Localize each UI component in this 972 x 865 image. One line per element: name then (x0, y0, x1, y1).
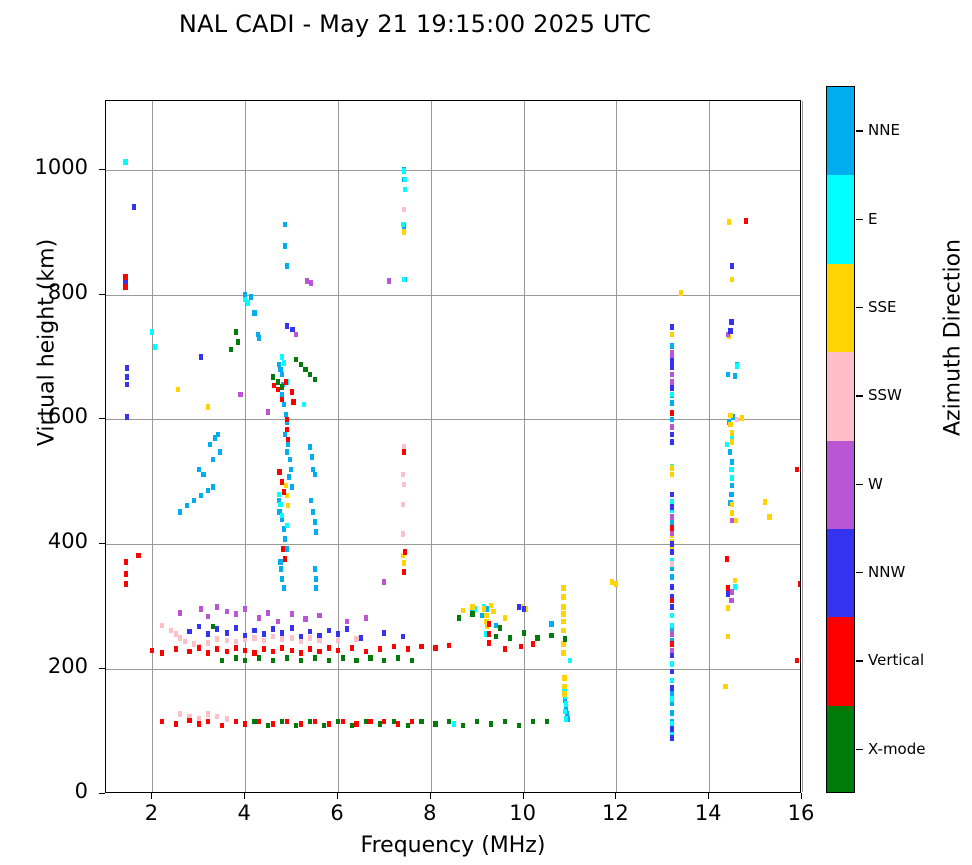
data-point (302, 402, 306, 408)
data-point (396, 655, 400, 661)
data-point (406, 646, 410, 652)
data-point (503, 719, 507, 725)
data-point (670, 410, 674, 416)
x-axis-tick-label: 14 (678, 801, 738, 825)
x-axis-tick (523, 793, 524, 799)
data-point (670, 358, 674, 364)
data-point (364, 649, 368, 655)
data-point (519, 644, 523, 650)
data-point (150, 329, 154, 335)
data-point (401, 222, 405, 228)
data-point (206, 631, 210, 637)
colorbar-segment-e (827, 175, 854, 263)
data-point (234, 329, 238, 335)
data-point (401, 472, 405, 478)
x-axis-tick (151, 793, 152, 799)
data-point (670, 432, 674, 438)
data-point (670, 574, 674, 580)
data-point (447, 643, 451, 649)
data-point (197, 645, 201, 651)
data-point (215, 604, 219, 610)
data-point (730, 475, 734, 481)
y-axis-tick-label: 200 (0, 654, 88, 678)
data-point (670, 631, 674, 637)
data-point (401, 531, 405, 537)
data-point (402, 168, 406, 174)
data-point (670, 417, 674, 423)
data-point (160, 650, 164, 656)
data-point (670, 400, 674, 406)
data-point (487, 631, 491, 637)
data-point (215, 626, 219, 632)
data-point (281, 546, 285, 552)
y-axis-tick (99, 793, 105, 794)
data-point (733, 578, 737, 584)
data-point (257, 335, 261, 341)
data-point (192, 641, 196, 647)
data-point (419, 644, 423, 650)
data-point (368, 719, 372, 725)
data-point (211, 484, 215, 490)
data-point (484, 613, 488, 619)
data-point (271, 658, 275, 664)
page-title: NAL CADI - May 21 19:15:00 2025 UTC (0, 10, 830, 38)
data-point (123, 274, 127, 280)
colorbar-tick (856, 130, 863, 131)
data-point (291, 399, 295, 405)
data-point (723, 684, 727, 690)
data-point (744, 218, 748, 224)
data-point (517, 604, 521, 610)
data-point (401, 502, 405, 508)
data-point (197, 467, 201, 473)
colorbar-tick (856, 484, 863, 485)
data-point (243, 658, 247, 664)
data-point (243, 633, 247, 639)
data-point (262, 631, 266, 637)
data-point (282, 489, 286, 495)
data-point (482, 606, 486, 612)
data-point (670, 372, 674, 378)
data-point (517, 723, 521, 729)
data-point (160, 623, 164, 629)
data-point (192, 498, 196, 504)
data-point (354, 636, 358, 642)
data-point (322, 723, 326, 729)
data-point (206, 650, 210, 656)
data-point (225, 630, 229, 636)
data-point (670, 623, 674, 629)
data-point (452, 721, 456, 727)
x-axis-tick (337, 793, 338, 799)
data-point (174, 631, 178, 637)
data-point (266, 610, 270, 616)
data-point (670, 613, 674, 619)
data-point (327, 628, 331, 634)
data-point (562, 684, 566, 690)
data-point (535, 635, 539, 641)
data-point (123, 284, 127, 290)
data-point (252, 719, 256, 725)
data-point (277, 492, 281, 498)
data-point (206, 614, 210, 620)
data-point (314, 529, 318, 535)
data-point (382, 579, 386, 585)
data-point (729, 492, 733, 498)
data-point (489, 603, 493, 609)
colorbar-segment-nne (827, 87, 854, 175)
data-point (285, 323, 289, 329)
colorbar-tick (856, 395, 863, 396)
data-point (670, 735, 674, 741)
data-point (727, 219, 731, 225)
data-point (283, 222, 287, 228)
data-point (286, 503, 290, 509)
data-point (280, 384, 284, 390)
data-point (670, 685, 674, 691)
data-point (197, 721, 201, 727)
colorbar-segment-ssw (827, 352, 854, 440)
data-point (271, 649, 275, 655)
data-point (208, 442, 212, 448)
data-point (280, 354, 284, 360)
data-point (728, 328, 732, 334)
data-point (670, 364, 674, 370)
data-point (489, 721, 493, 727)
data-point (236, 339, 240, 345)
data-point (410, 719, 414, 725)
data-point (174, 646, 178, 652)
data-point (266, 409, 270, 415)
data-point (308, 372, 312, 378)
data-point (280, 479, 284, 485)
colorbar-title: Azimuth Direction (941, 213, 966, 463)
data-point (730, 439, 734, 445)
data-point (670, 392, 674, 398)
y-axis-tick (99, 418, 105, 419)
data-point (125, 374, 129, 380)
data-point (206, 719, 210, 725)
data-point (132, 204, 136, 210)
data-point (470, 604, 474, 610)
x-axis-tick (244, 793, 245, 799)
data-point (735, 363, 739, 369)
data-point (310, 454, 314, 460)
data-point (402, 560, 406, 566)
data-point (313, 519, 317, 525)
data-point (187, 649, 191, 655)
data-point (336, 719, 340, 725)
data-point (670, 669, 674, 675)
data-point (252, 635, 256, 641)
data-point (670, 324, 674, 330)
data-point (238, 392, 242, 398)
data-point (735, 417, 739, 423)
data-point (317, 638, 321, 644)
data-point (336, 638, 340, 644)
data-point (670, 561, 674, 567)
data-point (285, 417, 289, 423)
data-point (726, 585, 730, 591)
data-point (206, 404, 210, 410)
data-point (402, 482, 406, 488)
x-axis-tick-label: 16 (771, 801, 831, 825)
data-point (257, 615, 261, 621)
data-point (670, 661, 674, 667)
data-point (271, 626, 275, 632)
data-point (178, 509, 182, 515)
data-point (313, 655, 317, 661)
data-point (350, 723, 354, 729)
data-point (283, 556, 287, 562)
data-point (670, 332, 674, 338)
data-point (278, 559, 282, 565)
data-point (730, 589, 734, 595)
data-point (670, 541, 674, 547)
data-point (392, 719, 396, 725)
data-point (549, 621, 553, 627)
data-point (220, 723, 224, 729)
data-point (290, 611, 294, 617)
data-point (286, 442, 290, 448)
data-point (359, 635, 363, 641)
data-point (299, 634, 303, 640)
data-point (562, 675, 566, 681)
x-axis-tick (801, 793, 802, 799)
data-point (614, 581, 618, 587)
data-point (234, 645, 238, 651)
y-axis-tick (99, 169, 105, 170)
data-point (461, 608, 465, 614)
data-point (225, 649, 229, 655)
colorbar-label-ssw: SSW (868, 386, 902, 404)
data-point (670, 696, 674, 702)
data-point (308, 635, 312, 641)
colorbar-label-nne: NNE (868, 121, 900, 139)
data-point (257, 655, 261, 661)
data-point (402, 229, 406, 235)
y-axis-tick (99, 294, 105, 295)
data-point (280, 372, 284, 378)
data-point (350, 645, 354, 651)
data-point (125, 414, 129, 420)
colorbar-label-x-mode: X-mode (868, 740, 925, 758)
data-point (763, 499, 767, 505)
data-point (280, 397, 284, 403)
colorbar-tick (856, 572, 863, 573)
data-point (725, 556, 729, 562)
data-point (234, 639, 238, 645)
data-point (336, 631, 340, 637)
x-axis-tick-label: 2 (121, 801, 181, 825)
data-point (341, 655, 345, 661)
data-point (396, 721, 400, 727)
data-point (280, 513, 284, 519)
data-point (345, 626, 349, 632)
data-point (670, 379, 674, 385)
data-point (308, 646, 312, 652)
data-point (498, 625, 502, 631)
y-axis-tick-label: 1000 (0, 155, 88, 179)
data-point (670, 492, 674, 498)
data-point (503, 615, 507, 621)
data-point (401, 634, 405, 640)
data-point (317, 613, 321, 619)
data-point (294, 723, 298, 729)
data-point (734, 518, 738, 524)
data-point (382, 719, 386, 725)
data-point (670, 604, 674, 610)
data-point (670, 424, 674, 430)
data-point (730, 263, 734, 269)
data-point (243, 606, 247, 612)
data-point (564, 716, 568, 722)
data-point (726, 634, 730, 640)
data-point (563, 709, 567, 715)
data-point (280, 636, 284, 642)
x-axis-tick-label: 8 (400, 801, 460, 825)
colorbar-label-w: W (868, 475, 883, 493)
data-point (531, 641, 535, 647)
data-point (285, 655, 289, 661)
data-point (733, 373, 737, 379)
data-point (308, 719, 312, 725)
data-point (294, 332, 298, 338)
data-point (670, 584, 674, 590)
y-axis-tick-label: 0 (0, 779, 88, 803)
data-point (278, 502, 282, 508)
x-axis-title: Frequency (MHz) (105, 833, 801, 858)
data-point (211, 457, 215, 463)
data-point (345, 619, 349, 625)
data-point (303, 616, 307, 622)
data-point (290, 484, 294, 490)
data-point (282, 585, 286, 591)
colorbar-tick (856, 219, 863, 220)
data-point (234, 655, 238, 661)
data-point (522, 630, 526, 636)
data-point (169, 628, 173, 634)
azimuth-colorbar (826, 86, 855, 793)
data-point (419, 719, 423, 725)
colorbar-label-vertical: Vertical (868, 651, 924, 669)
data-point (299, 721, 303, 727)
data-point (277, 469, 281, 475)
data-point (290, 648, 294, 654)
data-point (290, 635, 294, 641)
data-point (271, 634, 275, 640)
data-point (215, 714, 219, 720)
data-point (795, 658, 799, 664)
colorbar-segment-w (827, 441, 854, 529)
colorbar-segment-sse (827, 264, 854, 352)
colorbar-segment-x-mode (827, 706, 854, 793)
x-axis-tick-label: 6 (307, 801, 367, 825)
data-point (730, 483, 734, 489)
data-point (670, 343, 674, 349)
data-point (341, 719, 345, 725)
data-point (461, 723, 465, 729)
data-point (123, 159, 127, 165)
data-point (290, 327, 294, 333)
data-point (262, 638, 266, 644)
data-point (670, 641, 674, 647)
colorbar-segment-vertical (827, 617, 854, 705)
data-point (487, 640, 491, 646)
data-point (309, 498, 313, 504)
data-point (562, 691, 566, 697)
data-point (494, 634, 498, 640)
data-point (187, 718, 191, 724)
data-point (288, 457, 292, 463)
data-point (299, 639, 303, 645)
data-point (280, 576, 284, 582)
data-point (327, 721, 331, 727)
data-point (283, 536, 287, 542)
data-point (561, 650, 565, 656)
data-point (561, 594, 565, 600)
data-point (206, 711, 210, 717)
data-point (670, 350, 674, 356)
data-point (561, 641, 565, 647)
y-axis-tick-label: 400 (0, 529, 88, 553)
data-point (402, 449, 406, 455)
data-point (549, 633, 553, 639)
data-point (382, 630, 386, 636)
data-point (561, 619, 565, 625)
data-point (679, 290, 683, 296)
data-point (378, 721, 382, 727)
data-point (317, 649, 321, 655)
data-point (289, 467, 293, 473)
data-point (174, 721, 178, 727)
data-point (795, 467, 799, 473)
data-point (201, 472, 205, 478)
data-point (124, 571, 128, 577)
data-point (670, 598, 674, 604)
data-point (728, 422, 732, 428)
data-point (314, 585, 318, 591)
data-point (531, 719, 535, 725)
data-point (670, 465, 674, 471)
data-point (354, 658, 358, 664)
data-point (243, 648, 247, 654)
data-point (234, 625, 238, 631)
data-point (610, 579, 614, 585)
data-point (728, 449, 732, 455)
data-point (313, 719, 317, 725)
data-point (285, 263, 289, 269)
data-point (670, 653, 674, 659)
data-point (160, 719, 164, 725)
x-axis-tick-label: 10 (493, 801, 553, 825)
data-point (508, 635, 512, 641)
data-point (290, 389, 294, 395)
data-point (726, 605, 730, 611)
data-point (150, 648, 154, 654)
data-point (368, 655, 372, 661)
data-point (178, 635, 182, 641)
data-point (308, 629, 312, 635)
data-point (234, 719, 238, 725)
data-point (354, 721, 358, 727)
colorbar-tick (856, 749, 863, 750)
data-point (252, 628, 256, 634)
data-point (225, 609, 229, 615)
data-point (402, 569, 406, 575)
data-point (313, 472, 317, 478)
data-point (670, 678, 674, 684)
